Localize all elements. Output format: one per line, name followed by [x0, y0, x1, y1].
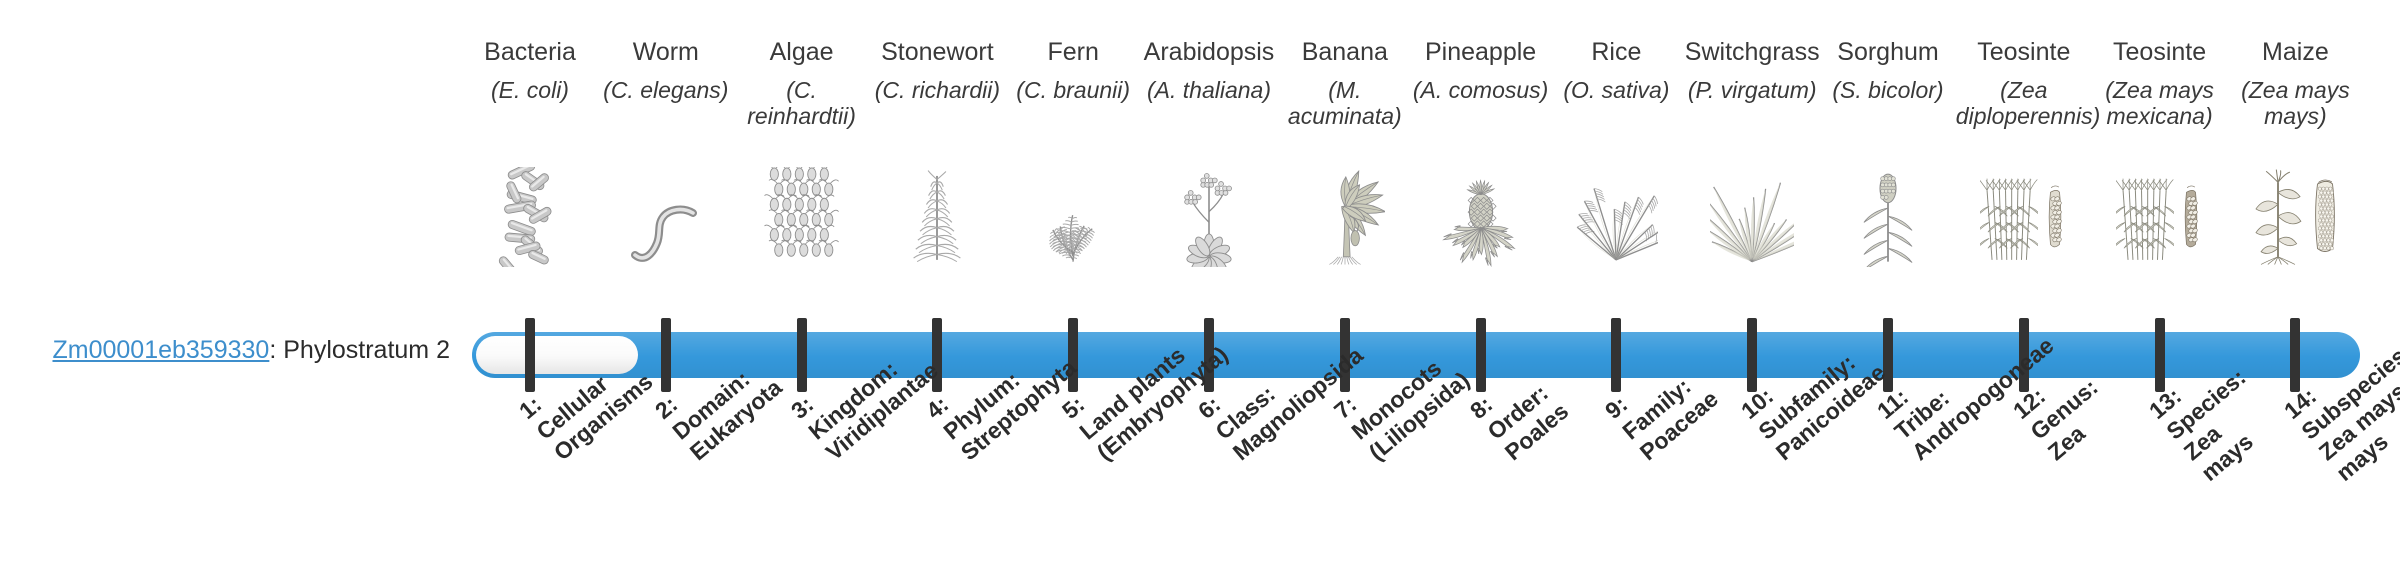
organism-scientific-name: (E. coli) — [462, 77, 598, 103]
organism-scientific-name: (C. braunii) — [1005, 77, 1141, 103]
worm-icon — [598, 162, 734, 267]
organism-common-name: Switchgrass — [1684, 38, 1820, 66]
organism-scientific-name: (A. comosus) — [1413, 77, 1549, 103]
organism-common-name: Pineapple — [1413, 38, 1549, 66]
organism-scientific-name: (C. richardii) — [869, 77, 1005, 103]
organism-column-rice-9: Rice(O. sativa) — [1548, 0, 1684, 320]
organism-common-name: Maize — [2227, 38, 2363, 66]
organism-column-banana-7: Banana(M. acuminata) — [1277, 0, 1413, 320]
organism-common-name: Stonewort — [869, 38, 1005, 66]
organism-common-name: Fern — [1005, 38, 1141, 66]
organism-column-algae-3: Algae(C. reinhardtii) — [734, 0, 870, 320]
timeline-tick-2[interactable] — [661, 318, 671, 392]
gene-label-separator: : — [269, 336, 283, 364]
algae-icon — [734, 162, 870, 267]
rice-icon — [1548, 162, 1684, 267]
timeline-tick-1[interactable] — [525, 318, 535, 392]
organism-scientific-name: (P. virgatum) — [1684, 77, 1820, 103]
timeline-tick-3[interactable] — [797, 318, 807, 392]
banana-icon — [1277, 162, 1413, 267]
gene-id-link[interactable]: Zm00001eb359330 — [52, 336, 269, 364]
organism-common-name: Bacteria — [462, 38, 598, 66]
timeline-tick-10[interactable] — [1747, 318, 1757, 392]
gene-phylostratum-label: Zm00001eb359330: Phylostratum 2 — [0, 335, 450, 365]
organism-scientific-name: (Zea diploperennis) — [1956, 77, 2092, 129]
organism-column-switchgrass-10: Switchgrass(P. virgatum) — [1684, 0, 1820, 320]
organism-column-worm-2: Worm(C. elegans) — [598, 0, 734, 320]
organism-scientific-name: (Zea mays mexicana) — [2092, 77, 2228, 129]
teosinte-diploperennis-icon — [1956, 162, 2092, 267]
stonewort-icon — [869, 162, 1005, 267]
maize-icon — [2227, 162, 2363, 267]
arabidopsis-icon — [1141, 162, 1277, 267]
organism-common-name: Arabidopsis — [1141, 38, 1277, 66]
organism-column-strip: Bacteria(E. coli)Worm(C. elegans)Algae(C… — [462, 0, 2328, 320]
switchgrass-icon — [1684, 162, 1820, 267]
organism-column-sorghum-11: Sorghum(S. bicolor) — [1820, 0, 1956, 320]
timeline-tick-13[interactable] — [2155, 318, 2165, 392]
organism-scientific-name: (C. reinhardtii) — [734, 77, 870, 129]
sorghum-icon — [1820, 162, 1956, 267]
organism-column-fern-5: Fern(C. braunii) — [1005, 0, 1141, 320]
phylostratum-figure: Zm00001eb359330: Phylostratum 2 Bacteria… — [0, 0, 2400, 580]
organism-common-name: Teosinte — [2092, 38, 2228, 66]
organism-common-name: Teosinte — [1956, 38, 2092, 66]
organism-scientific-name: (O. sativa) — [1548, 77, 1684, 103]
timeline-tick-8[interactable] — [1476, 318, 1486, 392]
organism-scientific-name: (S. bicolor) — [1820, 77, 1956, 103]
organism-column-teosinte-13: Teosinte(Zea mays mexicana) — [2092, 0, 2228, 320]
organism-scientific-name: (Zea mays mays) — [2227, 77, 2363, 129]
organism-common-name: Worm — [598, 38, 734, 66]
timeline-tick-14[interactable] — [2290, 318, 2300, 392]
pineapple-icon — [1413, 162, 1549, 267]
organism-common-name: Banana — [1277, 38, 1413, 66]
organism-scientific-name: (A. thaliana) — [1141, 77, 1277, 103]
organism-column-pineapple-8: Pineapple(A. comosus) — [1413, 0, 1549, 320]
organism-common-name: Rice — [1548, 38, 1684, 66]
teosinte-mexicana-icon — [2092, 162, 2228, 267]
organism-scientific-name: (M. acuminata) — [1277, 77, 1413, 129]
organism-column-maize-14: Maize(Zea mays mays) — [2227, 0, 2363, 320]
organism-common-name: Sorghum — [1820, 38, 1956, 66]
phylostratum-value-text: Phylostratum 2 — [283, 336, 450, 364]
timeline-tick-9[interactable] — [1611, 318, 1621, 392]
organism-common-name: Algae — [734, 38, 870, 66]
bacteria-icon — [462, 162, 598, 267]
organism-column-bacteria-1: Bacteria(E. coli) — [462, 0, 598, 320]
organism-scientific-name: (C. elegans) — [598, 77, 734, 103]
fern-icon — [1005, 162, 1141, 267]
organism-column-arabidopsis-6: Arabidopsis(A. thaliana) — [1141, 0, 1277, 320]
organism-column-stonewort-4: Stonewort(C. richardii) — [869, 0, 1005, 320]
organism-column-teosinte-12: Teosinte(Zea diploperennis) — [1956, 0, 2092, 320]
